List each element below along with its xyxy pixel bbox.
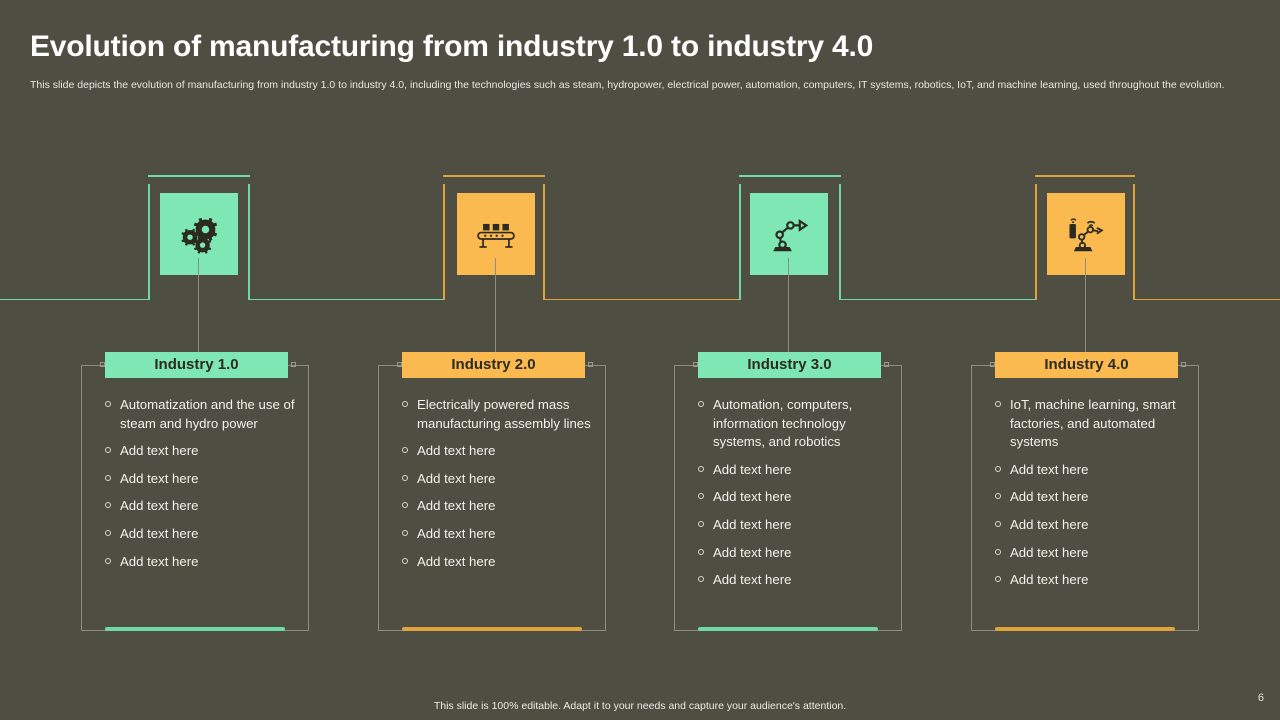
timeline-riser: [443, 184, 445, 300]
card-accent-bar-3: [698, 627, 878, 631]
bullet-text: Add text here: [1010, 571, 1088, 590]
icon-box-industry-2[interactable]: [457, 193, 535, 275]
bullet-text: Add text here: [417, 497, 495, 516]
bullet-text: Add text here: [417, 442, 495, 461]
bullet-text: Add text here: [120, 525, 198, 544]
timeline-notch-top: [1035, 175, 1135, 177]
list-item[interactable]: Add text here: [995, 488, 1188, 507]
timeline-notch-top: [443, 175, 545, 177]
page-subtitle: This slide depicts the evolution of manu…: [30, 78, 1235, 92]
card-title-label: Industry 4.0: [1044, 356, 1128, 373]
bullet-dot-icon: [698, 521, 704, 527]
card-title-label: Industry 3.0: [747, 356, 831, 373]
bullet-list-industry-4: IoT, machine learning, smart factories, …: [995, 396, 1188, 599]
conveyor-belt-icon: [473, 211, 519, 257]
bullet-text: Add text here: [1010, 516, 1088, 535]
bullet-text: Add text here: [120, 553, 198, 572]
bullet-dot-icon: [698, 576, 704, 582]
timeline-line: [0, 299, 149, 301]
list-item[interactable]: Add text here: [698, 571, 891, 590]
list-item[interactable]: Electrically powered mass manufacturing …: [402, 396, 592, 433]
bullet-dot-icon: [105, 475, 111, 481]
icon-box-industry-4[interactable]: [1047, 193, 1125, 275]
timeline-notch-top: [148, 175, 250, 177]
list-item[interactable]: Add text here: [698, 544, 891, 563]
icon-box-industry-1[interactable]: [160, 193, 238, 275]
bullet-dot-icon: [402, 502, 408, 508]
bullet-dot-icon: [105, 502, 111, 508]
bullet-list-industry-2: Electrically powered mass manufacturing …: [402, 396, 592, 580]
bullet-dot-icon: [698, 466, 704, 472]
bullet-dot-icon: [995, 549, 1001, 555]
list-item[interactable]: Add text here: [105, 470, 295, 489]
bullet-dot-icon: [402, 475, 408, 481]
bullet-dot-icon: [995, 401, 1001, 407]
list-item[interactable]: IoT, machine learning, smart factories, …: [995, 396, 1188, 452]
bullet-list-industry-1: Automatization and the use of steam and …: [105, 396, 295, 580]
list-item[interactable]: Add text here: [995, 516, 1188, 535]
card-accent-bar-1: [105, 627, 285, 631]
list-item[interactable]: Add text here: [995, 571, 1188, 590]
bullet-text: Electrically powered mass manufacturing …: [417, 396, 592, 433]
timeline-riser: [148, 184, 150, 300]
list-item[interactable]: Add text here: [105, 525, 295, 544]
timeline-riser: [543, 184, 545, 300]
robot-arm-icon: [766, 211, 812, 257]
timeline-notch-top: [739, 175, 841, 177]
list-item[interactable]: Add text here: [402, 525, 592, 544]
list-item[interactable]: Add text here: [698, 461, 891, 480]
bullet-text: Add text here: [417, 525, 495, 544]
smart-robot-iot-icon: [1063, 211, 1109, 257]
bullet-dot-icon: [995, 493, 1001, 499]
card-header-industry-1[interactable]: Industry 1.0: [105, 352, 288, 378]
bullet-dot-icon: [105, 530, 111, 536]
bullet-dot-icon: [995, 466, 1001, 472]
bullet-text: Add text here: [713, 544, 791, 563]
bullet-text: Add text here: [120, 497, 198, 516]
list-item[interactable]: Add text here: [995, 461, 1188, 480]
bullet-text: Automation, computers, information techn…: [713, 396, 891, 452]
card-accent-bar-4: [995, 627, 1175, 631]
list-item[interactable]: Add text here: [402, 442, 592, 461]
timeline-riser: [1035, 184, 1037, 300]
drop-connector-4: [1085, 258, 1086, 354]
card-handle-left-3[interactable]: [693, 362, 698, 367]
list-item[interactable]: Add text here: [995, 544, 1188, 563]
bullet-text: Add text here: [713, 516, 791, 535]
page-title: Evolution of manufacturing from industry…: [30, 30, 873, 64]
bullet-dot-icon: [698, 401, 704, 407]
drop-connector-2: [495, 258, 496, 354]
card-title-label: Industry 2.0: [451, 356, 535, 373]
list-item[interactable]: Add text here: [698, 516, 891, 535]
page-number: 6: [1258, 692, 1264, 704]
card-handle-stub-right-1: [296, 365, 309, 366]
bullet-text: Add text here: [1010, 544, 1088, 563]
bullet-dot-icon: [402, 401, 408, 407]
bullet-dot-icon: [105, 447, 111, 453]
footer-note: This slide is 100% editable. Adapt it to…: [0, 700, 1280, 712]
card-header-industry-3[interactable]: Industry 3.0: [698, 352, 881, 378]
bullet-dot-icon: [698, 549, 704, 555]
bullet-dot-icon: [698, 493, 704, 499]
bullet-text: Add text here: [713, 461, 791, 480]
timeline-line: [248, 299, 443, 301]
card-header-industry-2[interactable]: Industry 2.0: [402, 352, 585, 378]
bullet-dot-icon: [105, 558, 111, 564]
bullet-dot-icon: [105, 401, 111, 407]
bullet-text: Automatization and the use of steam and …: [120, 396, 295, 433]
bullet-dot-icon: [402, 530, 408, 536]
bullet-dot-icon: [402, 558, 408, 564]
list-item[interactable]: Add text here: [105, 442, 295, 461]
drop-connector-3: [788, 258, 789, 354]
bullet-text: Add text here: [120, 470, 198, 489]
card-handle-stub-right-3: [889, 365, 902, 366]
slide-root: Evolution of manufacturing from industry…: [0, 0, 1280, 720]
list-item[interactable]: Add text here: [698, 488, 891, 507]
bullet-text: Add text here: [120, 442, 198, 461]
bullet-text: Add text here: [1010, 461, 1088, 480]
list-item[interactable]: Add text here: [402, 470, 592, 489]
card-handle-stub-right-2: [593, 365, 606, 366]
card-handle-stub-right-4: [1186, 365, 1199, 366]
bullet-text: Add text here: [713, 488, 791, 507]
bullet-text: Add text here: [417, 470, 495, 489]
timeline-line: [839, 299, 1035, 301]
timeline-riser: [248, 184, 250, 300]
bullet-dot-icon: [995, 576, 1001, 582]
list-item[interactable]: Add text here: [105, 553, 295, 572]
timeline-riser: [739, 184, 741, 300]
drop-connector-1: [198, 258, 199, 354]
gears-icon: [176, 211, 222, 257]
icon-box-industry-3[interactable]: [750, 193, 828, 275]
card-handle-left-2[interactable]: [397, 362, 402, 367]
list-item[interactable]: Automatization and the use of steam and …: [105, 396, 295, 433]
card-accent-bar-2: [402, 627, 582, 631]
card-handle-left-4[interactable]: [990, 362, 995, 367]
bullet-text: Add text here: [1010, 488, 1088, 507]
list-item[interactable]: Add text here: [402, 553, 592, 572]
bullet-dot-icon: [995, 521, 1001, 527]
bullet-text: Add text here: [417, 553, 495, 572]
bullet-text: IoT, machine learning, smart factories, …: [1010, 396, 1188, 452]
list-item[interactable]: Automation, computers, information techn…: [698, 396, 891, 452]
bullet-dot-icon: [402, 447, 408, 453]
list-item[interactable]: Add text here: [105, 497, 295, 516]
card-title-label: Industry 1.0: [154, 356, 238, 373]
bullet-list-industry-3: Automation, computers, information techn…: [698, 396, 891, 599]
bullet-text: Add text here: [713, 571, 791, 590]
list-item[interactable]: Add text here: [402, 497, 592, 516]
timeline-riser: [839, 184, 841, 300]
card-handle-left-1[interactable]: [100, 362, 105, 367]
timeline-line: [1133, 299, 1280, 301]
timeline-riser: [1133, 184, 1135, 300]
card-header-industry-4[interactable]: Industry 4.0: [995, 352, 1178, 378]
timeline-line: [543, 299, 739, 301]
